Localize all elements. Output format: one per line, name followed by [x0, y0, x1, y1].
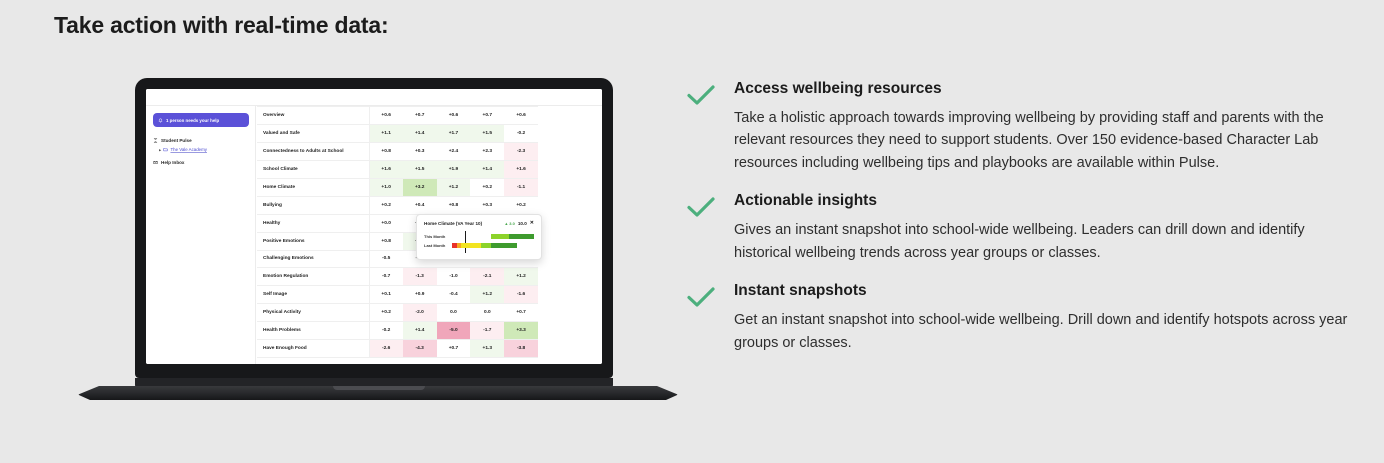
- check-icon: [686, 192, 720, 264]
- table-cell-value[interactable]: +1.4: [403, 322, 437, 340]
- feature-item: Actionable insightsGives an instant snap…: [686, 192, 1356, 264]
- table-row[interactable]: Valued and Safe+1.1+1.4+1.7+1.5-0.2: [257, 124, 538, 142]
- help-badge[interactable]: 1 person needs your help: [153, 113, 249, 127]
- bar-segment-dark-green: [491, 243, 517, 248]
- feature-description: Get an instant snapshot into school-wide…: [734, 309, 1356, 354]
- tooltip-metrics: ▲ 3.0 10.0 ✕: [504, 221, 534, 226]
- table-cell-value[interactable]: +1.3: [470, 340, 504, 358]
- table-cell-value[interactable]: +1.9: [437, 160, 471, 178]
- table-row-label: Connectedness to Adults at School: [257, 142, 369, 160]
- feature-description: Take a holistic approach towards improvi…: [734, 107, 1356, 174]
- table-cell-value[interactable]: +0.2: [470, 178, 504, 196]
- table-cell-value[interactable]: 0.0: [437, 304, 471, 322]
- check-icon: [686, 80, 720, 174]
- table-cell-value[interactable]: -5.0: [437, 322, 471, 340]
- sidebar: 1 person needs your help Student Pulse: [146, 106, 256, 364]
- table-cell-value[interactable]: +0.9: [403, 286, 437, 304]
- tooltip-title: Home Climate (VA Year 10): [424, 221, 482, 226]
- table-cell-value[interactable]: -2.1: [470, 268, 504, 286]
- tooltip-bar-row: This Month: [424, 233, 534, 240]
- table-cell-value[interactable]: +1.5: [470, 124, 504, 142]
- table-cell-value[interactable]: +0.6: [437, 107, 471, 125]
- sidebar-item-help-inbox[interactable]: Help Inbox: [153, 158, 249, 167]
- table-row[interactable]: Home Climate+1.0+3.2+1.2+0.2-1.1: [257, 178, 538, 196]
- table-cell-value[interactable]: 0.0: [470, 304, 504, 322]
- table-cell-value[interactable]: +1.2: [470, 286, 504, 304]
- table-cell-value[interactable]: +0.4: [403, 196, 437, 214]
- table-row[interactable]: Have Enough Food-2.6-4.3+0.7+1.3-3.8: [257, 340, 538, 358]
- table-cell-value[interactable]: -0.4: [437, 286, 471, 304]
- table-row[interactable]: Emotion Regulation-0.7-1.3-1.0-2.1+1.2: [257, 268, 538, 286]
- table-cell-value[interactable]: +0.2: [369, 304, 403, 322]
- table-row[interactable]: Overview+0.6+0.7+0.6+0.7+0.6: [257, 107, 538, 125]
- table-row-label: Emotion Regulation: [257, 268, 369, 286]
- table-cell-value[interactable]: -2.3: [504, 142, 538, 160]
- table-cell-value[interactable]: +0.1: [369, 286, 403, 304]
- table-cell-value[interactable]: -1.7: [470, 322, 504, 340]
- close-icon[interactable]: ✕: [530, 221, 534, 226]
- bar-segment-light-green: [481, 243, 491, 248]
- table-cell-value[interactable]: +1.5: [403, 160, 437, 178]
- tooltip-bar-track: [452, 243, 534, 248]
- inbox-icon: [153, 160, 158, 165]
- table-cell-value[interactable]: +1.2: [437, 178, 471, 196]
- feature-description: Gives an instant snapshot into school-wi…: [734, 219, 1356, 264]
- app-topbar: [146, 89, 602, 106]
- tooltip-chart: This Month Last Month: [424, 233, 534, 249]
- laptop-screen: 1 person needs your help Student Pulse: [146, 89, 602, 364]
- table-row-label: Health Problems: [257, 322, 369, 340]
- table-cell-value[interactable]: +1.4: [403, 124, 437, 142]
- table-cell-value[interactable]: +1.4: [470, 160, 504, 178]
- laptop-trackpad-notch: [333, 386, 425, 390]
- table-cell-value[interactable]: +0.6: [369, 107, 403, 125]
- table-row-label: School Climate: [257, 160, 369, 178]
- table-cell-value[interactable]: -0.5: [369, 250, 403, 268]
- table-cell-value[interactable]: -2.6: [369, 340, 403, 358]
- table-cell-value[interactable]: +3.2: [403, 178, 437, 196]
- table-row-label: Bullying: [257, 196, 369, 214]
- feature-title: Actionable insights: [734, 192, 1356, 210]
- feature-title: Instant snapshots: [734, 282, 1356, 300]
- laptop-lid: 1 person needs your help Student Pulse: [135, 78, 613, 378]
- tooltip-delta: ▲ 3.0: [504, 221, 515, 226]
- table-row[interactable]: Connectedness to Adults at School+0.8+0.…: [257, 142, 538, 160]
- feature-text: Instant snapshotsGet an instant snapshot…: [734, 282, 1356, 354]
- table-cell-value[interactable]: +1.7: [437, 124, 471, 142]
- table-row-label: Challenging Emotions: [257, 250, 369, 268]
- table-cell-value[interactable]: -2.0: [403, 304, 437, 322]
- table-cell-value[interactable]: +0.3: [470, 196, 504, 214]
- sidebar-sub-item-label: The Vale Academy: [170, 147, 207, 152]
- sidebar-item-the-vale-academy[interactable]: ▶ The Vale Academy: [153, 145, 249, 154]
- table-cell-value[interactable]: -1.3: [403, 268, 437, 286]
- table-cell-value[interactable]: +0.6: [504, 107, 538, 125]
- table-row[interactable]: Bullying+0.2+0.4+0.8+0.3+0.2: [257, 196, 538, 214]
- tooltip-bar-label: Last Month: [424, 243, 452, 248]
- check-icon: [686, 282, 720, 354]
- feature-item: Instant snapshotsGet an instant snapshot…: [686, 282, 1356, 354]
- bar-segment-light-green: [491, 234, 510, 239]
- table-cell-value[interactable]: +0.3: [403, 142, 437, 160]
- table-cell-value[interactable]: +1.0: [369, 178, 403, 196]
- table-row-label: Home Climate: [257, 178, 369, 196]
- table-cell-value[interactable]: -3.8: [504, 340, 538, 358]
- up-arrow-icon: ▲: [504, 221, 508, 226]
- help-badge-label: 1 person needs your help: [166, 118, 219, 123]
- table-row-label: Valued and Safe: [257, 124, 369, 142]
- table-row-label: Physical Activity: [257, 304, 369, 322]
- pulse-app: 1 person needs your help Student Pulse: [146, 89, 602, 364]
- bar-segment-empty: [452, 234, 491, 239]
- table-row-label: Self Image: [257, 286, 369, 304]
- tooltip-score: 10.0: [518, 221, 527, 226]
- pulse-icon: [153, 138, 158, 143]
- sidebar-item-label: Help Inbox: [161, 160, 184, 165]
- table-row-label: Positive Emotions: [257, 232, 369, 250]
- table-row[interactable]: Self Image+0.1+0.9-0.4+1.2-1.6: [257, 286, 538, 304]
- tooltip-bar-label: This Month: [424, 234, 452, 239]
- page-title: Take action with real-time data:: [54, 12, 388, 39]
- table-cell-value[interactable]: -0.2: [369, 322, 403, 340]
- sidebar-item-student-pulse[interactable]: Student Pulse: [153, 136, 249, 145]
- table-cell-value[interactable]: +3.3: [504, 322, 538, 340]
- table-cell-value[interactable]: +0.8: [369, 232, 403, 250]
- folder-icon: [163, 147, 168, 152]
- pulse-table-area: Overview+0.6+0.7+0.6+0.7+0.6Valued and S…: [256, 106, 602, 364]
- sidebar-item-label: Student Pulse: [161, 138, 192, 143]
- tooltip-delta-value: 3.0: [509, 221, 515, 226]
- tooltip-header: Home Climate (VA Year 10) ▲ 3.0 10.0 ✕: [424, 221, 534, 226]
- metric-tooltip: Home Climate (VA Year 10) ▲ 3.0 10.0 ✕: [416, 214, 542, 260]
- bell-icon: [158, 118, 163, 123]
- table-cell-value[interactable]: +0.7: [403, 107, 437, 125]
- bar-segment-dark-green: [509, 234, 534, 239]
- table-cell-value[interactable]: +1.2: [504, 268, 538, 286]
- feature-text: Actionable insightsGives an instant snap…: [734, 192, 1356, 264]
- feature-title: Access wellbeing resources: [734, 80, 1356, 98]
- app-body: 1 person needs your help Student Pulse: [146, 106, 602, 364]
- table-cell-value[interactable]: +1.6: [504, 160, 538, 178]
- table-cell-value[interactable]: +0.7: [504, 304, 538, 322]
- bar-segment-yellow: [461, 243, 481, 248]
- feature-list: Access wellbeing resourcesTake a holisti…: [686, 80, 1356, 354]
- table-row[interactable]: School Climate+1.6+1.5+1.9+1.4+1.6: [257, 160, 538, 178]
- table-cell-value[interactable]: +0.8: [437, 196, 471, 214]
- feature-text: Access wellbeing resourcesTake a holisti…: [734, 80, 1356, 174]
- feature-item: Access wellbeing resourcesTake a holisti…: [686, 80, 1356, 174]
- table-row[interactable]: Health Problems-0.2+1.4-5.0-1.7+3.3: [257, 322, 538, 340]
- tooltip-bar-track: [452, 234, 534, 239]
- sidebar-nav: Student Pulse ▶ The Vale Academy: [153, 136, 249, 167]
- table-cell-value[interactable]: -1.6: [504, 286, 538, 304]
- laptop-mockup: 1 person needs your help Student Pulse: [78, 78, 678, 418]
- table-cell-value[interactable]: +0.2: [369, 196, 403, 214]
- table-row-label: Healthy: [257, 214, 369, 232]
- table-cell-value[interactable]: +0.0: [369, 214, 403, 232]
- table-row-label: Have Enough Food: [257, 340, 369, 358]
- table-row[interactable]: Physical Activity+0.2-2.00.00.0+0.7: [257, 304, 538, 322]
- chevron-right-icon[interactable]: ▶: [159, 148, 161, 152]
- table-cell-value[interactable]: -1.0: [437, 268, 471, 286]
- table-cell-value[interactable]: +0.8: [369, 142, 403, 160]
- table-cell-value[interactable]: -0.7: [369, 268, 403, 286]
- table-cell-value[interactable]: +2.3: [470, 142, 504, 160]
- tooltip-bar-row: Last Month: [424, 242, 534, 249]
- table-row-label: Overview: [257, 107, 369, 125]
- table-cell-value[interactable]: +1.1: [369, 124, 403, 142]
- table-cell-value[interactable]: -0.2: [504, 124, 538, 142]
- table-cell-value[interactable]: +0.7: [437, 340, 471, 358]
- table-cell-value[interactable]: +1.6: [369, 160, 403, 178]
- table-cell-value[interactable]: +0.7: [470, 107, 504, 125]
- table-cell-value[interactable]: -1.1: [504, 178, 538, 196]
- table-cell-value[interactable]: +0.2: [504, 196, 538, 214]
- table-cell-value[interactable]: +2.4: [437, 142, 471, 160]
- table-cell-value[interactable]: -4.3: [403, 340, 437, 358]
